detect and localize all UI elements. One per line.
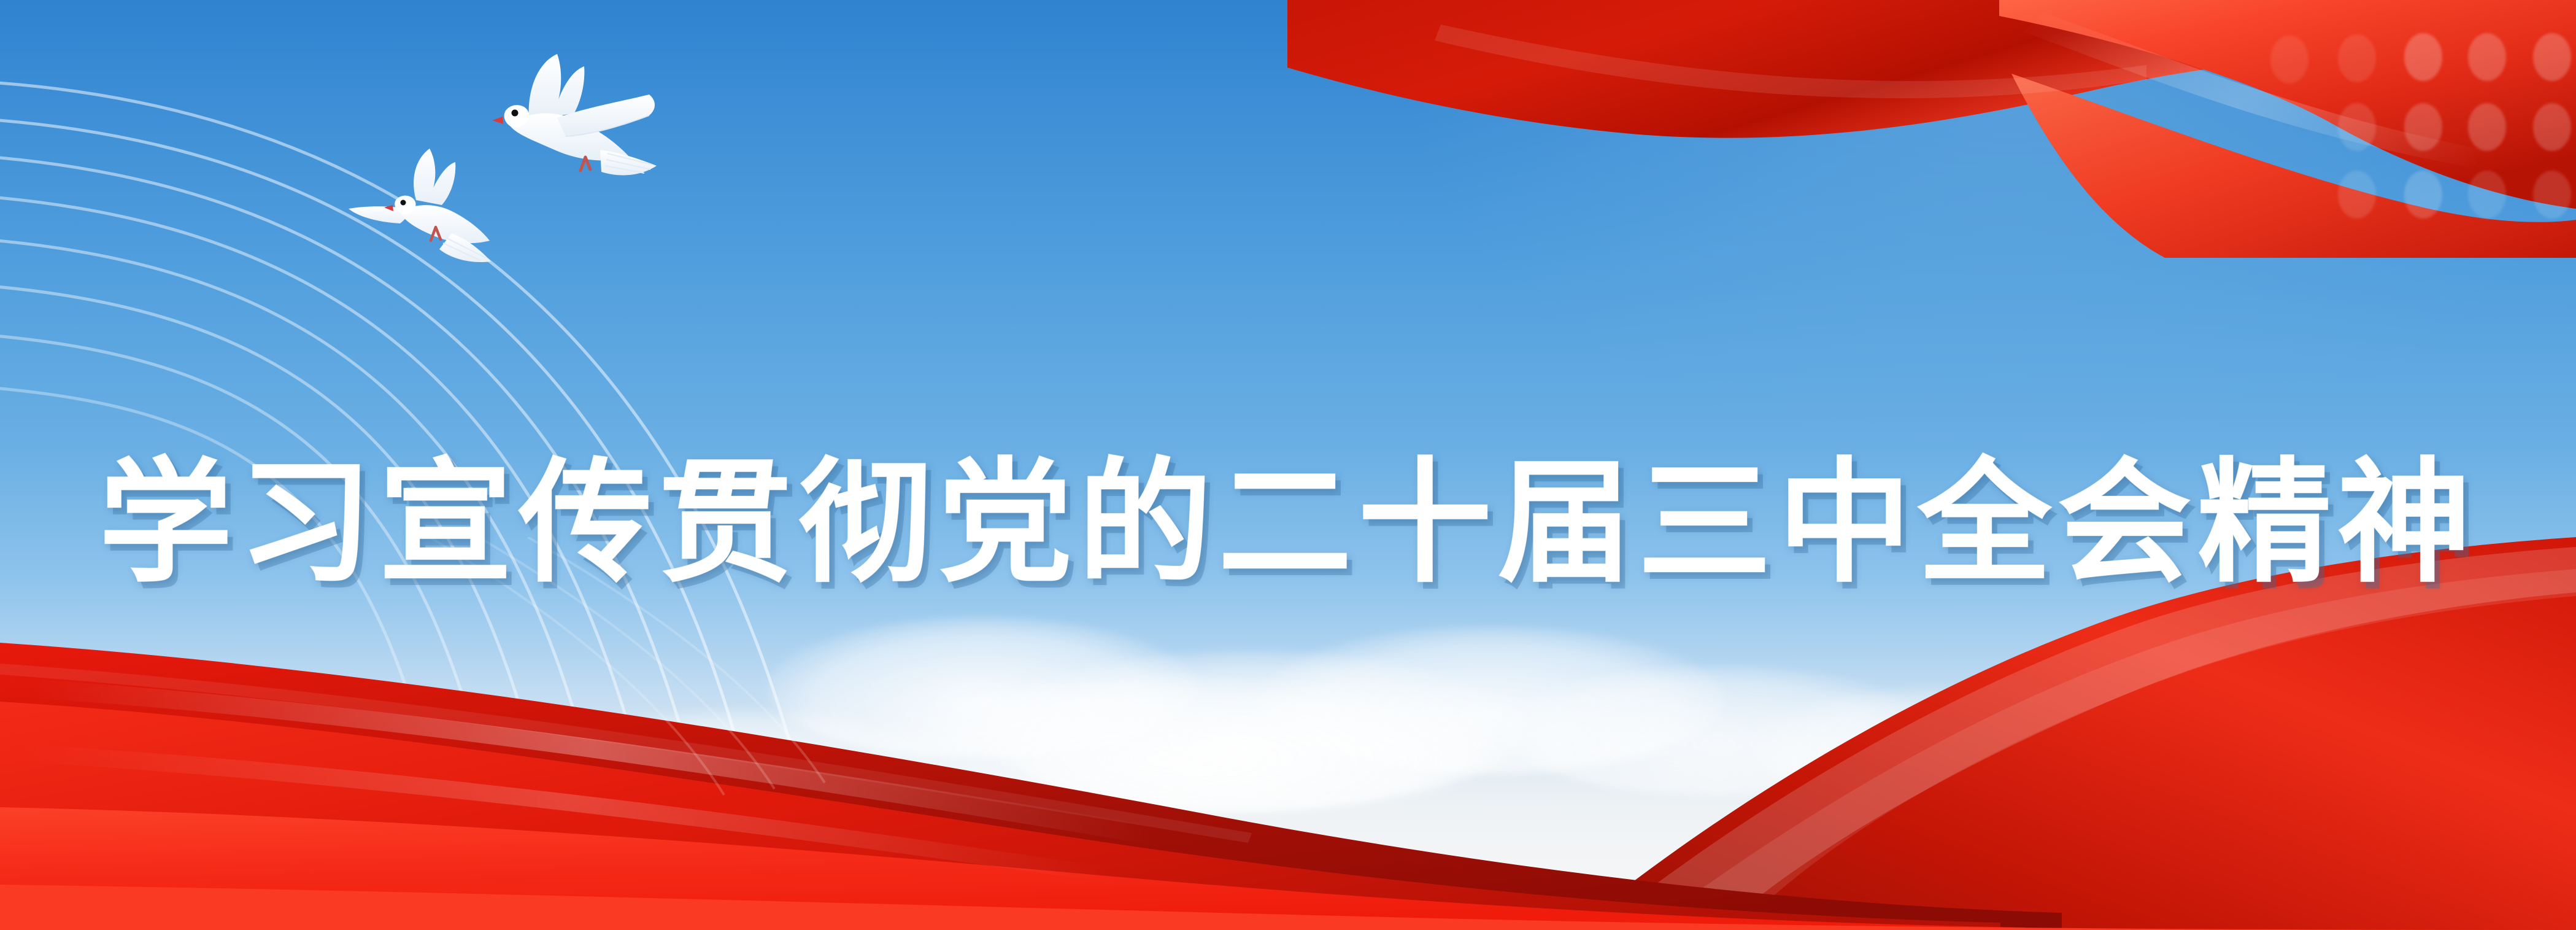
dove-small-icon xyxy=(344,141,528,264)
banner-title-wrap: 学习宣传贯彻党的二十届三中全会精神 xyxy=(0,368,2576,681)
dove-large-icon xyxy=(454,49,675,209)
page-title: 学习宣传贯彻党的二十届三中全会精神 xyxy=(99,458,2477,592)
banner-root: 学习宣传贯彻党的二十届三中全会精神 xyxy=(0,0,2576,930)
